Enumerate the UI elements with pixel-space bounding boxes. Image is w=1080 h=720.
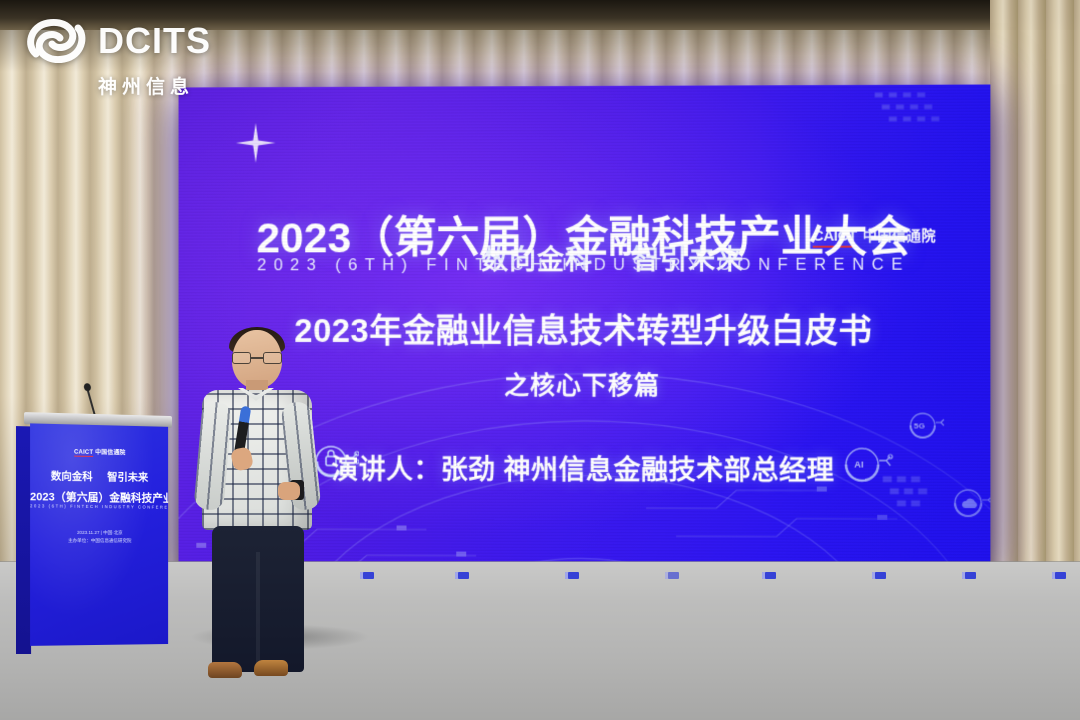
- podium-event-date: 2023.11.27 | 中国·北京: [30, 529, 168, 538]
- speaker-trousers: [212, 526, 304, 672]
- podium-conference-title-cn: 2023（第六届）金融科技产业大会: [30, 488, 168, 506]
- dcits-brand-cn: 神州信息: [98, 72, 244, 99]
- podium-conference-title-en: 2023 (6TH) FINTECH INDUSTRY CONFERENCE: [30, 503, 168, 509]
- dcits-brand-latin: DCITS: [98, 23, 211, 59]
- right-wall-curtain: [990, 0, 1080, 590]
- podium-tagline-right: 智引未来: [107, 471, 148, 484]
- podium-front-panel: CAICT 中国信通院 数向金科 智引未来 2023（第六届）金融科技产业大会 …: [30, 423, 168, 646]
- conference-stage-photo: AI 5G CAICT 中国信通院: [0, 0, 1080, 720]
- podium-caict-cn: 中国信通院: [95, 450, 125, 457]
- podium-tagline-left: 数向金科: [51, 470, 93, 483]
- podium-tagline: 数向金科 智引未来: [30, 468, 168, 485]
- podium-event-host: 主办单位：中国信息通信研究院: [30, 537, 168, 546]
- speaker-podium: CAICT 中国信通院 数向金科 智引未来 2023（第六届）金融科技产业大会 …: [16, 412, 172, 720]
- dcits-watermark: DCITS 神州信息: [24, 14, 244, 92]
- dcits-swirl-logo-icon: [24, 14, 90, 68]
- speaker-person: [196, 330, 318, 690]
- podium-side-panel: [16, 426, 31, 654]
- conference-title-en: 2023 (6TH) FINTECH INDUSTRY CONFERENCE: [179, 256, 991, 276]
- podium-caict-logo: CAICT 中国信通院: [30, 446, 168, 458]
- glasses-icon: [232, 352, 282, 364]
- speaker-right-shoe: [254, 660, 288, 676]
- podium-caict-mark: CAICT: [74, 450, 93, 457]
- speaker-left-shoe: [208, 662, 242, 678]
- podium-event-meta: 2023.11.27 | 中国·北京 主办单位：中国信息通信研究院: [30, 529, 168, 546]
- speaker-right-hand: [278, 482, 300, 500]
